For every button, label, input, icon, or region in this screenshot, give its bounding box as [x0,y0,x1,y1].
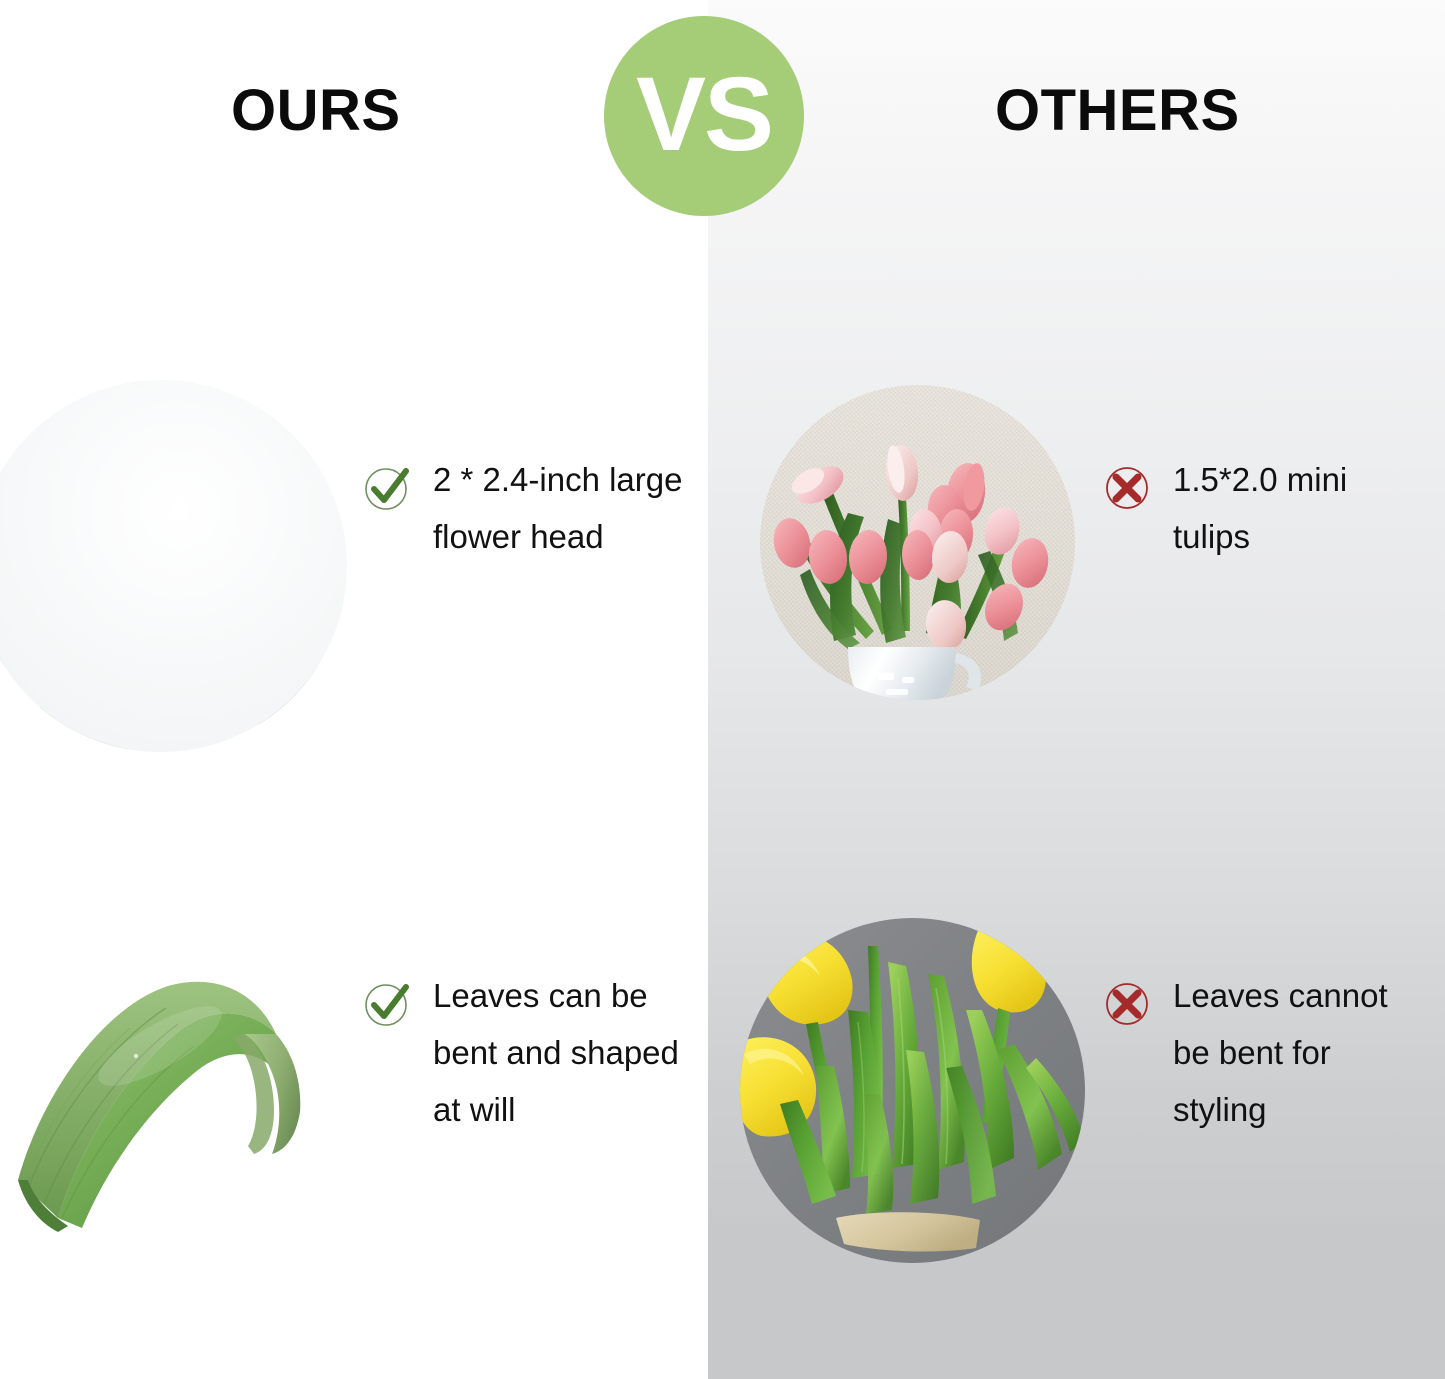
others-feature-2: Leaves cannot be bent for styling [1103,968,1433,1138]
ours-feature-2-label: Leaves can be bent and shaped at will [433,968,693,1138]
vs-label: VS [636,62,772,167]
check-circle-icon [363,980,411,1028]
ours-title: OURS [231,82,401,140]
others-product-image-2 [740,918,1085,1263]
cross-circle-icon [1103,980,1151,1028]
ours-feature-1: 2 * 2.4-inch large flower head [363,452,683,566]
others-feature-1: 1.5*2.0 mini tulips [1103,452,1423,566]
others-feature-1-label: 1.5*2.0 mini tulips [1173,452,1423,566]
check-circle-icon [363,464,411,512]
cross-circle-icon [1103,464,1151,512]
header: OURS VS OTHERS [0,0,1445,240]
others-title: OTHERS [995,82,1240,140]
comparison-row-1: 2 * 2.4-inch large flower head [0,370,1445,770]
comparison-row-2: Leaves can be bent and shaped at will [0,890,1445,1290]
comparison-infographic: OURS VS OTHERS [0,0,1445,1379]
vs-badge: VS [604,16,804,216]
ours-feature-1-label: 2 * 2.4-inch large flower head [433,452,683,566]
ours-product-image-2 [0,950,350,1250]
ours-product-image-1 [0,380,347,752]
others-feature-2-label: Leaves cannot be bent for styling [1173,968,1433,1138]
others-product-image-1 [760,385,1075,700]
ours-feature-2: Leaves can be bent and shaped at will [363,968,693,1138]
